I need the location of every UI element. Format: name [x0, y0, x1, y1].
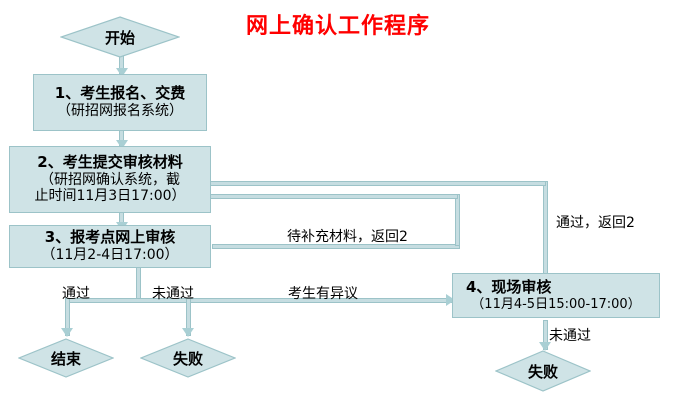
node-fail-left-label: 失败 [140, 338, 236, 378]
node-step3-line1: 3、报考点网上审核 [45, 229, 175, 247]
node-step1-line2: （研招网报名系统） [57, 103, 183, 120]
node-step1-line1: 1、考生报名、交费 [55, 85, 185, 103]
node-step2[interactable]: 2、考生提交审核材料 （研招网确认系统，截 止时间11月3日17:00） [9, 146, 211, 213]
flowchart-canvas: 网上确认工作程序 开始 1、考生报名、交费 （研招网报名系统） [0, 0, 692, 417]
arrowhead-to-fail-left-diamond [182, 328, 194, 337]
node-fail-right[interactable]: 失败 [495, 350, 591, 392]
node-start[interactable]: 开始 [60, 16, 180, 58]
edge-label-not-passed: 未通过 [152, 283, 194, 303]
connector-bottom-bus [65, 298, 452, 303]
edge-label-pass-return2: 通过，返回2 [556, 212, 635, 232]
connector-step4-up-segment [543, 181, 548, 277]
node-start-label: 开始 [60, 16, 180, 58]
edge-label-not-passed-right: 未通过 [549, 325, 591, 345]
node-fail-right-label: 失败 [495, 350, 591, 392]
node-step1[interactable]: 1、考生报名、交费 （研招网报名系统） [33, 74, 207, 131]
node-step4[interactable]: 4、现场审核 （11月4-5日15:00-17:00） [452, 273, 660, 318]
page-title: 网上确认工作程序 [246, 8, 526, 40]
node-step2-line2: （研招网确认系统，截 [40, 172, 180, 189]
edge-label-objection: 考生有异议 [288, 283, 358, 303]
node-step4-line2: （11月4-5日15:00-17:00） [471, 297, 640, 312]
node-step3[interactable]: 3、报考点网上审核 （11月2-4日17:00） [9, 225, 211, 268]
node-end[interactable]: 结束 [18, 338, 114, 378]
edge-label-passed: 通过 [62, 283, 90, 303]
arrowhead-to-end-diamond [61, 328, 73, 337]
node-step4-line1: 4、现场审核 [466, 279, 551, 297]
node-fail-left[interactable]: 失败 [140, 338, 236, 378]
node-step2-line1: 2、考生提交审核材料 [37, 154, 182, 172]
connector-step3-bottom-stem [136, 266, 141, 300]
node-step2-line3: 止时间11月3日17:00） [34, 188, 185, 205]
connector-step3-up-segment [455, 194, 460, 246]
edge-label-need-more-material: 待补充材料，返回2 [287, 226, 408, 246]
node-end-label: 结束 [18, 338, 114, 378]
node-step3-line2: （11月2-4日17:00） [41, 247, 178, 264]
